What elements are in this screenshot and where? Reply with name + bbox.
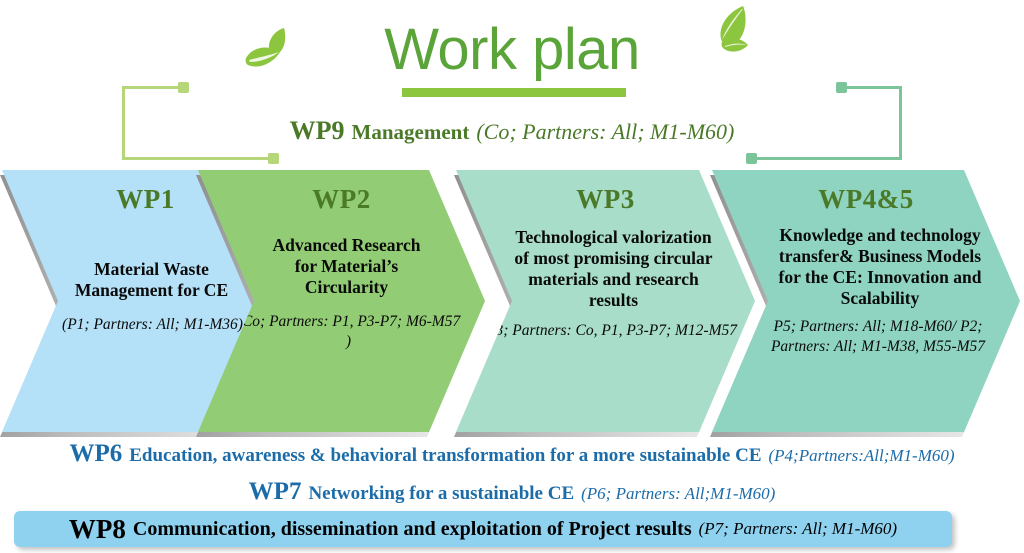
wp7-title: Networking for a sustainable CE (308, 483, 574, 504)
title-underline (402, 88, 626, 97)
wp9-bracket-left-stem (122, 157, 275, 160)
wp8-meta: (P7; Partners: All; M1-M60) (699, 519, 897, 539)
wp7-meta: (P6; Partners: All;M1-M60) (581, 484, 775, 503)
wp9-bracket-right-dot (836, 82, 847, 93)
chevron-wp3[interactable]: WP3 Technological valorization of most p… (456, 170, 755, 432)
chevron-wp4-5-meta: P5; Partners: All; M18-M60/ P2; Partners… (712, 317, 1020, 357)
chevron-wp3-meta: P3; Partners: Co, P1, P3-P7; M12-M57 (456, 321, 755, 341)
wp9-bracket-left-endpoint (268, 153, 279, 164)
wp8-code: WP8 (69, 514, 126, 545)
wp9-bracket-right-stem (750, 157, 902, 160)
wp8-title: Communication, dissemination and exploit… (133, 518, 692, 541)
chevron-wp4-5-code: WP4&5 (712, 184, 1020, 215)
wp9-bracket-right-endpoint (746, 153, 757, 164)
wp9-row: WP9Management(Co; Partners: All; M1-M60) (0, 116, 1024, 146)
wp6-code: WP6 (69, 440, 122, 467)
wp6-title: Education, awareness & behavioral transf… (129, 445, 761, 466)
page-title: Work plan (0, 16, 1024, 84)
chevron-wp4-5-title: Knowledge and technology transfer& Busin… (712, 225, 1020, 309)
chevron-wp2-code: WP2 (198, 184, 485, 215)
workpackage-chevron-band: WP1 Material Waste Management for CE (P1… (0, 170, 1024, 432)
wp9-title: Management (352, 120, 470, 144)
wp8-box[interactable]: WP8Communication, dissemination and expl… (14, 511, 952, 547)
wp7-row: WP7Networking for a sustainable CE(P6; P… (0, 478, 1024, 506)
wp9-bracket-left-dot (178, 82, 189, 93)
wp6-row: WP6Education, awareness & behavioral tra… (0, 440, 1024, 468)
chevron-wp4-5[interactable]: WP4&5 Knowledge and technology transfer&… (712, 170, 1020, 432)
chevron-wp3-code: WP3 (456, 184, 755, 215)
wp9-meta: (Co; Partners: All; M1-M60) (476, 119, 734, 144)
chevron-wp3-title: Technological valorization of most promi… (456, 227, 755, 311)
wp6-meta: (P4;Partners:All;M1-M60) (769, 446, 955, 465)
wp7-code: WP7 (249, 478, 302, 505)
wp9-code: WP9 (290, 116, 345, 145)
